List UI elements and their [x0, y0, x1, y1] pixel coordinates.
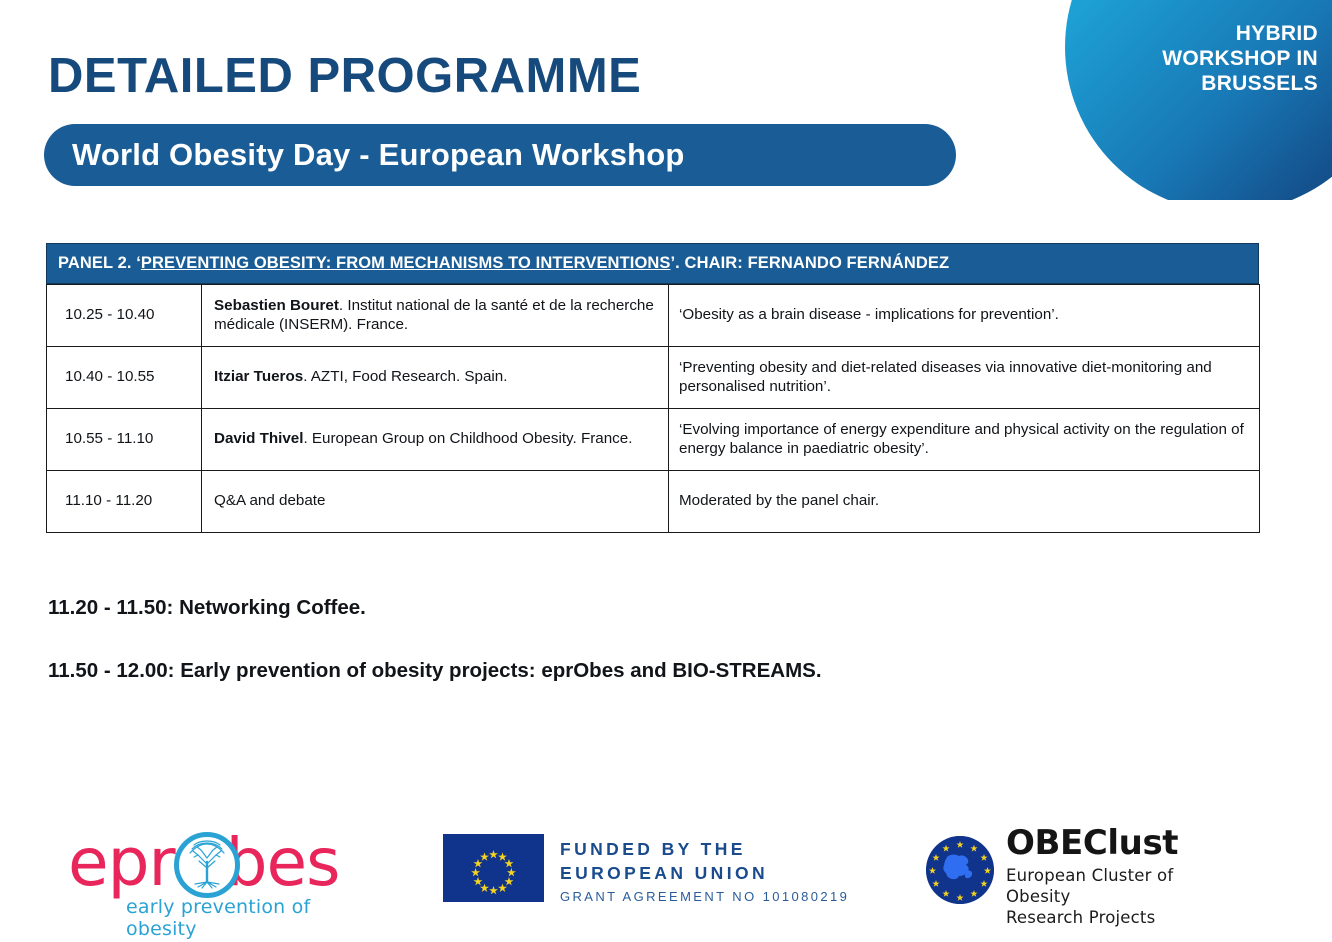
row-speaker: Itziar Tueros. AZTI, Food Research. Spai…: [202, 347, 669, 409]
eprobes-bes: bes: [226, 824, 340, 901]
subtitle-text: World Obesity Day - European Workshop: [44, 137, 685, 173]
row-speaker: Q&A and debate: [202, 471, 669, 533]
row-topic: ‘Obesity as a brain disease - implicatio…: [669, 285, 1260, 347]
table-row: 10.55 - 11.10 David Thivel. European Gro…: [47, 409, 1260, 471]
panel-underlined-title: PREVENTING OBESITY: FROM MECHANISMS TO I…: [141, 254, 671, 272]
row-speaker: David Thivel. European Group on Childhoo…: [202, 409, 669, 471]
footer-logos: eprObes early prevention of obesity: [0, 812, 1332, 942]
panel-header-text: PANEL 2. ‘PREVENTING OBESITY: FROM MECHA…: [58, 254, 949, 273]
obeclust-subtitle: European Cluster of Obesity Research Pro…: [1006, 865, 1178, 928]
eprobes-epr: epr: [68, 824, 175, 901]
speaker-name: Sebastien Bouret: [214, 297, 339, 314]
eu-line-1: FUNDED BY THE: [560, 838, 849, 862]
obeclust-sub-line-1: European Cluster of Obesity: [1006, 865, 1178, 907]
panel-prefix: PANEL 2. ‘: [58, 254, 141, 272]
row-time: 10.25 - 10.40: [47, 285, 202, 347]
eu-grant-agreement: GRANT AGREEMENT NO 101080219: [560, 889, 849, 904]
speaker-name: Itziar Tueros: [214, 368, 303, 385]
row-speaker: Sebastien Bouret. Institut national de l…: [202, 285, 669, 347]
eu-stars: [443, 834, 544, 902]
badge-line-3: BRUSSELS: [1162, 72, 1318, 97]
programme-table: PANEL 2. ‘PREVENTING OBESITY: FROM MECHA…: [46, 243, 1259, 533]
row-topic: Moderated by the panel chair.: [669, 471, 1260, 533]
eu-line-2: EUROPEAN UNION: [560, 862, 849, 886]
page-title: DETAILED PROGRAMME: [48, 48, 641, 104]
speaker-affiliation: . AZTI, Food Research. Spain.: [303, 368, 507, 385]
note-projects: 11.50 - 12.00: Early prevention of obesi…: [48, 659, 822, 683]
badge-line-2: WORKSHOP IN: [1162, 47, 1318, 72]
eprobes-tagline: early prevention of obesity: [126, 896, 358, 940]
eu-flag-icon: [443, 834, 544, 902]
obeclust-text-block: OBEClust European Cluster of Obesity Res…: [1006, 826, 1178, 928]
table-row: 11.10 - 11.20 Q&A and debate Moderated b…: [47, 471, 1260, 533]
eprobes-logo: eprObes early prevention of obesity: [68, 830, 358, 930]
speaker-affiliation: . European Group on Childhood Obesity. F…: [303, 430, 632, 447]
badge-circle-shape: [1065, 0, 1332, 200]
speaker-name: David Thivel: [214, 430, 303, 447]
table-row: 10.40 - 10.55 Itziar Tueros. AZTI, Food …: [47, 347, 1260, 409]
session-table: 10.25 - 10.40 Sebastien Bouret. Institut…: [46, 284, 1260, 533]
obeclust-sub-line-2: Research Projects: [1006, 907, 1178, 928]
panel-suffix: ’. CHAIR: FERNANDO FERNÁNDEZ: [671, 254, 950, 272]
row-time: 10.40 - 10.55: [47, 347, 202, 409]
eu-text-block: FUNDED BY THE EUROPEAN UNION GRANT AGREE…: [560, 838, 849, 904]
obeclust-globe-svg: [926, 836, 994, 904]
table-row: 10.25 - 10.40 Sebastien Bouret. Institut…: [47, 285, 1260, 347]
panel-header: PANEL 2. ‘PREVENTING OBESITY: FROM MECHA…: [46, 243, 1259, 284]
row-time: 11.10 - 11.20: [47, 471, 202, 533]
hybrid-workshop-badge: HYBRID WORKSHOP IN BRUSSELS: [1040, 0, 1332, 200]
obeclust-globe-icon: [926, 836, 994, 904]
programme-page: HYBRID WORKSHOP IN BRUSSELS DETAILED PRO…: [0, 0, 1332, 942]
row-topic: ‘Preventing obesity and diet-related dis…: [669, 347, 1260, 409]
badge-text: HYBRID WORKSHOP IN BRUSSELS: [1162, 22, 1318, 96]
subtitle-banner: World Obesity Day - European Workshop: [44, 124, 956, 186]
note-networking-coffee: 11.20 - 11.50: Networking Coffee.: [48, 596, 366, 620]
tree-icon: [178, 836, 236, 894]
row-topic: ‘Evolving importance of energy expenditu…: [669, 409, 1260, 471]
row-time: 10.55 - 11.10: [47, 409, 202, 471]
obeclust-title: OBEClust: [1006, 826, 1178, 862]
badge-line-1: HYBRID: [1162, 22, 1318, 47]
speaker-affiliation: Q&A and debate: [214, 492, 325, 509]
